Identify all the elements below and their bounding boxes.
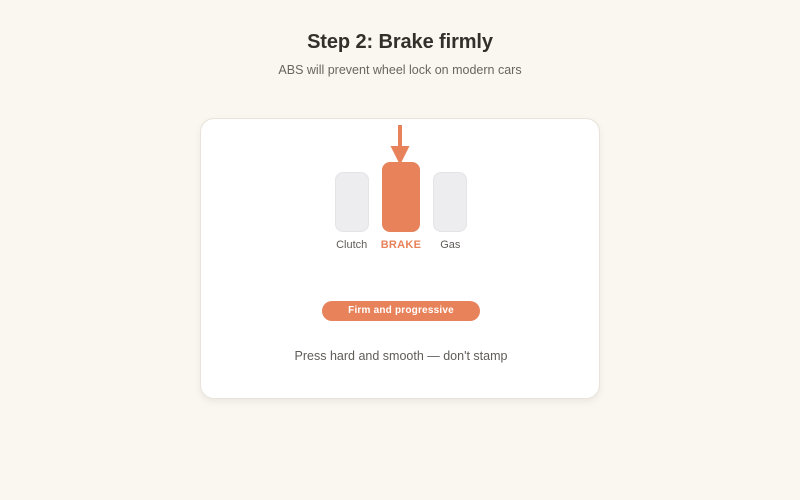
- pedal-row: Clutch BRAKE Gas: [201, 166, 601, 252]
- arrow-down-icon: [387, 125, 413, 167]
- pill-container: Firm and progressive: [201, 301, 601, 321]
- instruction-card: Clutch BRAKE Gas Firm and progressive Pr…: [200, 118, 600, 399]
- pedal-gas-shape[interactable]: [433, 172, 467, 232]
- pedal-brake-shape[interactable]: [382, 162, 420, 232]
- pedal-clutch-label: Clutch: [336, 239, 367, 252]
- pedal-gas-label: Gas: [440, 239, 460, 252]
- page-title: Step 2: Brake firmly: [0, 30, 800, 54]
- technique-badge: Firm and progressive: [322, 301, 480, 321]
- pedal-gas[interactable]: Gas: [433, 172, 467, 252]
- card-caption: Press hard and smooth — don't stamp: [201, 348, 601, 364]
- pedal-clutch[interactable]: Clutch: [335, 172, 369, 252]
- page-subtitle: ABS will prevent wheel lock on modern ca…: [0, 62, 800, 78]
- pedal-clutch-shape[interactable]: [335, 172, 369, 232]
- pedal-brake-label: BRAKE: [381, 239, 422, 252]
- pedal-brake[interactable]: BRAKE: [381, 162, 422, 252]
